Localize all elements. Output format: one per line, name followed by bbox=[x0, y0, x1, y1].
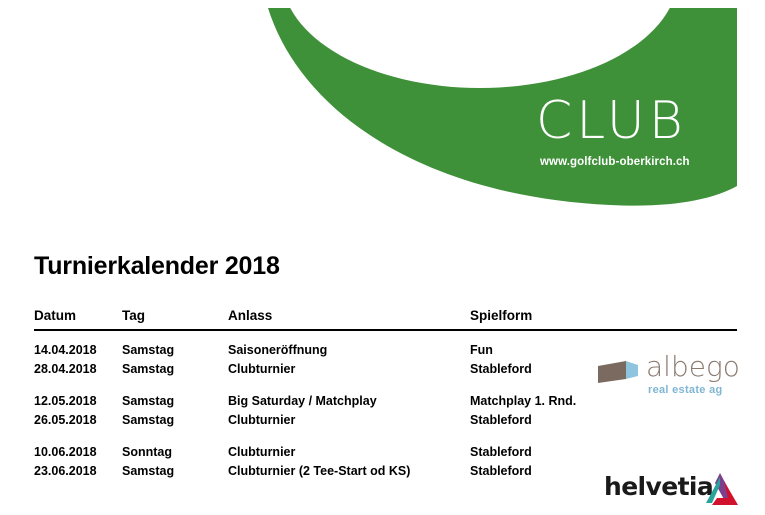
cell-datum: 23.06.2018 bbox=[34, 464, 97, 478]
cell-anlass: Clubturnier bbox=[228, 413, 295, 427]
table-header-row: Datum Tag Anlass Spielform bbox=[34, 308, 737, 330]
cell-datum: 10.06.2018 bbox=[34, 445, 97, 459]
cell-tag: Samstag bbox=[122, 343, 174, 357]
cell-tag: Sonntag bbox=[122, 445, 172, 459]
column-header-datum: Datum bbox=[34, 308, 76, 323]
cell-spielform: Fun bbox=[470, 343, 493, 357]
column-header-anlass: Anlass bbox=[228, 308, 272, 323]
sponsor-logo-albego: albego real estate ag bbox=[596, 357, 756, 397]
table-row: 26.05.2018 Samstag Clubturnier Stablefor… bbox=[34, 413, 737, 432]
albego-tagline: real estate ag bbox=[648, 384, 723, 396]
table-row: 10.06.2018 Sonntag Clubturnier Stablefor… bbox=[34, 445, 737, 464]
cell-tag: Samstag bbox=[122, 413, 174, 427]
cell-datum: 12.05.2018 bbox=[34, 394, 97, 408]
cell-tag: Samstag bbox=[122, 362, 174, 376]
column-header-spielform: Spielform bbox=[470, 308, 532, 323]
cell-datum: 26.05.2018 bbox=[34, 413, 97, 427]
spacer bbox=[34, 432, 737, 445]
helvetia-name: helvetia bbox=[604, 474, 713, 500]
club-wordmark: CLUB bbox=[536, 95, 687, 147]
cell-tag: Samstag bbox=[122, 464, 174, 478]
cell-spielform: Stableford bbox=[470, 464, 532, 478]
cell-datum: 28.04.2018 bbox=[34, 362, 97, 376]
row-group-mai: 12.05.2018 Samstag Big Saturday / Matchp… bbox=[34, 394, 737, 432]
cell-spielform: Matchplay 1. Rnd. bbox=[470, 394, 576, 408]
page-title: Turnierkalender 2018 bbox=[34, 252, 280, 281]
cell-anlass: Big Saturday / Matchplay bbox=[228, 394, 377, 408]
cell-anlass: Clubturnier bbox=[228, 445, 295, 459]
helvetia-triangle-icon bbox=[700, 471, 740, 507]
cell-datum: 14.04.2018 bbox=[34, 343, 97, 357]
cell-tag: Samstag bbox=[122, 394, 174, 408]
cell-spielform: Stableford bbox=[470, 413, 532, 427]
header-banner: CLUB www.golfclub-oberkirch.ch bbox=[0, 0, 765, 212]
cell-spielform: Stableford bbox=[470, 445, 532, 459]
sponsor-logo-helvetia: helvetia bbox=[604, 474, 754, 508]
cell-spielform: Stableford bbox=[470, 362, 532, 376]
albego-3d-block-icon bbox=[596, 359, 640, 385]
club-website-url: www.golfclub-oberkirch.ch bbox=[540, 156, 690, 168]
column-header-tag: Tag bbox=[122, 308, 145, 323]
header-divider-rule bbox=[34, 329, 737, 331]
turnierkalender-page: CLUB www.golfclub-oberkirch.ch Turnierka… bbox=[0, 0, 765, 515]
albego-name: albego bbox=[646, 353, 740, 381]
spacer bbox=[34, 330, 737, 343]
cell-anlass: Clubturnier bbox=[228, 362, 295, 376]
cell-anlass: Saisoneröffnung bbox=[228, 343, 327, 357]
cell-anlass: Clubturnier (2 Tee-Start od KS) bbox=[228, 464, 410, 478]
